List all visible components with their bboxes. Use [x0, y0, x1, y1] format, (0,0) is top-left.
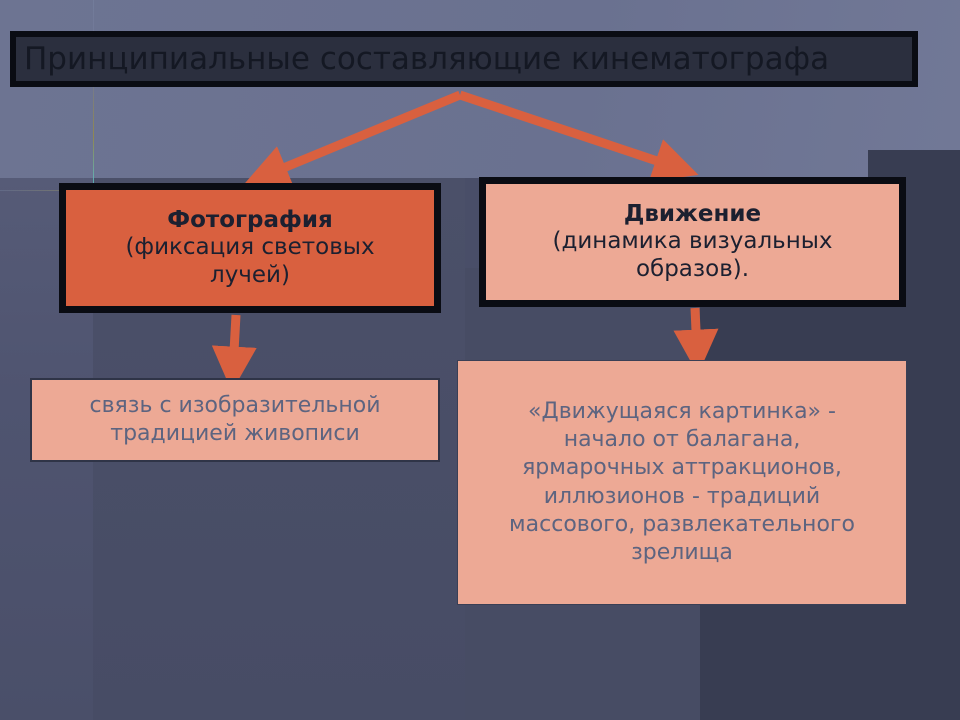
note-box-moving-picture: «Движущаяся картинка» - начало от балага… — [457, 360, 907, 605]
note-right-line-6: зрелища — [631, 539, 733, 567]
movement-heading: Движение — [624, 201, 761, 228]
movement-line-3: образов). — [636, 256, 749, 284]
note-right-line-5: массового, развлекательного — [509, 511, 855, 539]
background-guide-line-vertical — [93, 0, 94, 190]
page-title: Принципиальные составляющие кинематограф… — [24, 44, 829, 75]
note-right-line-1: «Движущаяся картинка» - — [528, 398, 836, 426]
note-right-line-4: иллюзионов - традиций — [544, 483, 820, 511]
concept-box-movement: Движение (динамика визуальных образов). — [479, 177, 906, 307]
photography-line-2: (фиксация световых — [125, 234, 374, 262]
note-left-line-1: связь с изобразительной — [89, 392, 380, 420]
note-box-painting-tradition: связь с изобразительной традицией живопи… — [30, 378, 440, 462]
movement-line-2: (динамика визуальных — [552, 228, 832, 256]
slide-canvas: Принципиальные составляющие кинематограф… — [0, 0, 960, 720]
note-right-line-3: ярмарочных аттракционов, — [522, 454, 842, 482]
slide-title-box: Принципиальные составляющие кинематограф… — [10, 31, 918, 87]
note-left-line-2: традицией живописи — [110, 420, 360, 448]
photography-heading: Фотография — [167, 207, 332, 234]
photography-line-3: лучей) — [210, 262, 290, 290]
note-right-line-2: начало от балагана, — [564, 426, 801, 454]
concept-box-photography: Фотография (фиксация световых лучей) — [59, 183, 441, 313]
